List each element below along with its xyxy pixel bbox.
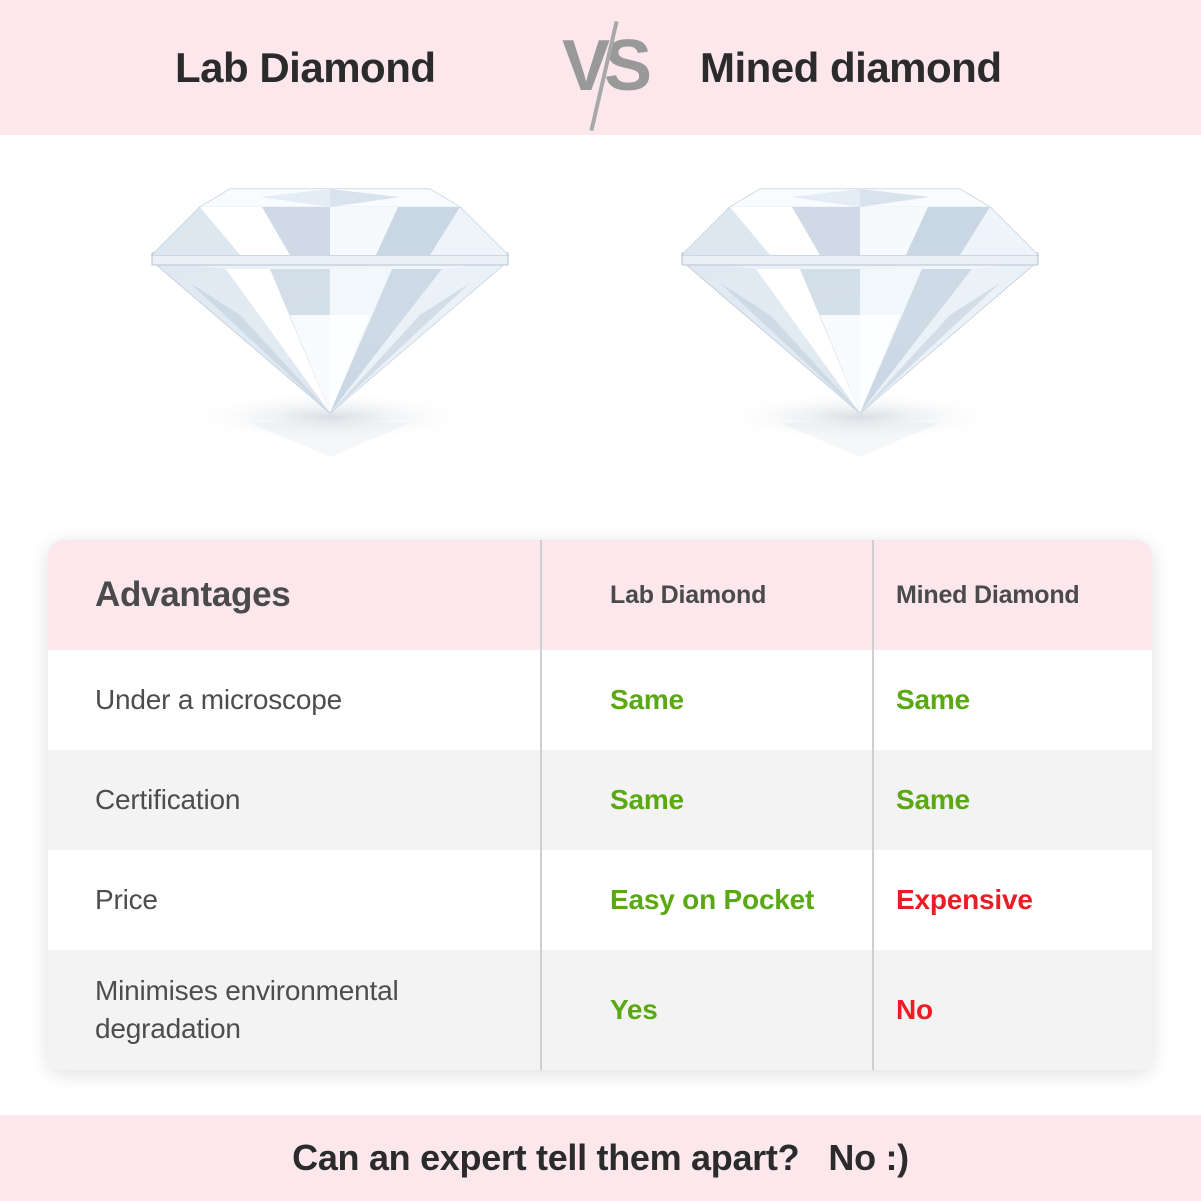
- diamond-icon: [660, 165, 1060, 465]
- cell-lab-under-a-microscope: Same: [541, 650, 873, 750]
- footer-question: Can an expert tell them apart? No :): [292, 1137, 909, 1179]
- cell-mined-price: Expensive: [873, 850, 1152, 950]
- row-label-under-a-microscope: Under a microscope: [48, 650, 541, 750]
- cell-lab-certification: Same: [541, 750, 873, 850]
- table-row: Under a microscope Same Same: [48, 650, 1152, 750]
- header-title-mined-diamond: Mined diamond: [700, 44, 1002, 92]
- cell-mined-certification: Same: [873, 750, 1152, 850]
- column-header-lab-diamond: Lab Diamond: [541, 540, 873, 650]
- cell-lab-minimises-environmental-degradation: Yes: [541, 950, 873, 1070]
- row-label-price: Price: [48, 850, 541, 950]
- table-row: Certification Same Same: [48, 750, 1152, 850]
- versus-graphic: VS: [556, 16, 656, 126]
- cell-mined-minimises-environmental-degradation: No: [873, 950, 1152, 1070]
- comparison-table: Advantages Lab Diamond Mined Diamond Und…: [48, 540, 1152, 1070]
- row-label-certification: Certification: [48, 750, 541, 850]
- cell-lab-price: Easy on Pocket: [541, 850, 873, 950]
- column-header-mined-diamond: Mined Diamond: [873, 540, 1152, 650]
- diamond-icon: [130, 165, 530, 465]
- footer-band: Can an expert tell them apart? No :): [0, 1115, 1201, 1201]
- diamond-image-area: [0, 135, 1201, 535]
- cell-mined-under-a-microscope: Same: [873, 650, 1152, 750]
- column-header-advantages: Advantages: [48, 540, 541, 650]
- header-title-lab-diamond: Lab Diamond: [175, 44, 436, 92]
- table-header-row: Advantages Lab Diamond Mined Diamond: [48, 540, 1152, 650]
- header-inner: Lab Diamond VS Mined diamond: [0, 0, 1201, 135]
- table-row: Minimises environmental degradation Yes …: [48, 950, 1152, 1070]
- table-row: Price Easy on Pocket Expensive: [48, 850, 1152, 950]
- row-label-minimises-environmental-degradation: Minimises environmental degradation: [48, 950, 541, 1070]
- lab-diamond-image: [130, 165, 530, 465]
- comparison-card: Advantages Lab Diamond Mined Diamond Und…: [48, 540, 1152, 1070]
- header-band: Lab Diamond VS Mined diamond: [0, 0, 1201, 135]
- mined-diamond-image: [660, 165, 1060, 465]
